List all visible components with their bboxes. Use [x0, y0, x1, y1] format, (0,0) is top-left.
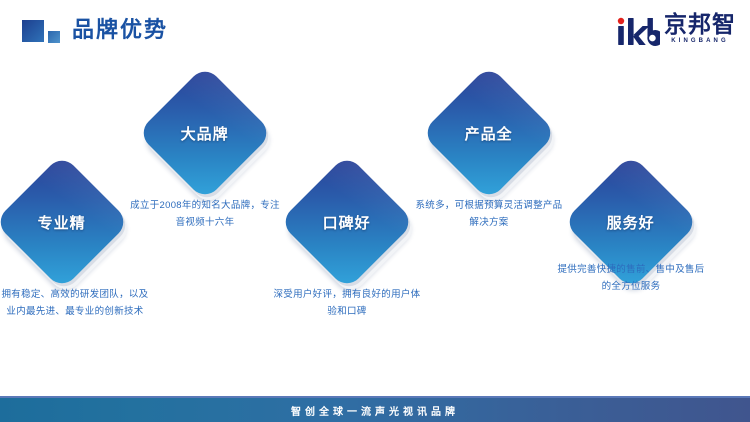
page-title: 品牌优势 [72, 14, 168, 46]
badge-diamond[interactable]: 口碑好 [279, 154, 415, 290]
badge-label: 产品全 [465, 122, 513, 143]
advantage-badge[interactable]: 口碑好 [299, 174, 395, 270]
advantage-caption: 提供完善快捷的售前、售中及售后的全方位服务 [556, 261, 706, 295]
advantage-badge[interactable]: 产品全 [441, 85, 537, 181]
advantage-caption: 成立于2008年的知名大品牌，专注音视频十六年 [130, 197, 280, 231]
advantage-badge[interactable]: 专业精 [14, 174, 110, 270]
badge-label: 口碑好 [323, 211, 371, 232]
advantage-caption: 系统多，可根据预算灵活调整产品解决方案 [414, 197, 564, 231]
advantages-board: 专业精 拥有稳定、高效的研发团队，以及业内最先进、最专业的创新技术 大品牌 成立… [0, 62, 750, 392]
advantage-badge[interactable]: 大品牌 [157, 85, 253, 181]
badge-label: 服务好 [607, 211, 655, 232]
badge-label: 专业精 [38, 211, 86, 232]
badge-label: 大品牌 [181, 122, 229, 143]
kb-monogram-icon [614, 17, 660, 47]
logo-name-cn: 京邦智 [664, 13, 736, 36]
slide-footer: 智创全球一流声光视讯品牌 [0, 396, 750, 422]
slide-header: 品牌优势 京邦智 KINGBANG [0, 0, 750, 62]
advantage-caption: 深受用户好评，拥有良好的用户体验和口碑 [272, 286, 422, 320]
header-accent-square-large [22, 20, 44, 42]
advantage-caption: 拥有稳定、高效的研发团队，以及业内最先进、最专业的创新技术 [0, 286, 150, 320]
badge-diamond[interactable]: 产品全 [421, 65, 557, 201]
brand-logo: 京邦智 KINGBANG [614, 13, 736, 47]
logo-name-en: KINGBANG [671, 37, 728, 46]
advantage-badge[interactable]: 服务好 [583, 174, 679, 270]
badge-diamond[interactable]: 大品牌 [137, 65, 273, 201]
badge-diamond[interactable]: 专业精 [0, 154, 130, 290]
logo-wordmark: 京邦智 KINGBANG [664, 13, 736, 47]
header-accent-square-small [48, 31, 60, 43]
footer-slogan: 智创全球一流声光视讯品牌 [291, 403, 459, 418]
